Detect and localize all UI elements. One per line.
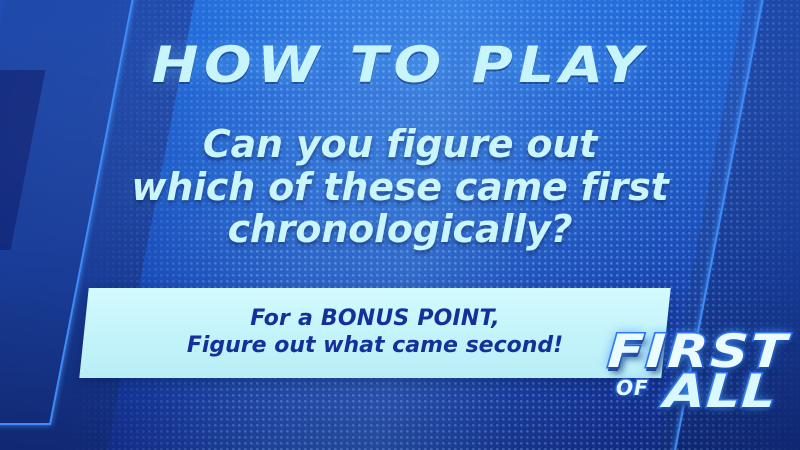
logo-word-of: OF [616,376,649,400]
show-logo: FIRST OF ALL [602,320,792,428]
logo-word-all: ALL [662,364,778,418]
question-text-block: Can you figure out which of these came f… [60,123,740,251]
page-title: HOW TO PLAY [0,36,800,94]
question-line-3: chronologically? [60,208,740,251]
question-line-1: Can you figure out [60,123,740,166]
question-line-2: which of these came first [60,166,740,209]
bonus-banner: For a BONUS POINT, Figure out what came … [84,288,666,378]
how-to-play-slide: HOW TO PLAY Can you figure out which of … [0,0,800,450]
bonus-banner-line-1: For a BONUS POINT, [250,306,500,333]
bonus-banner-line-2: Figure out what came second! [187,333,563,360]
